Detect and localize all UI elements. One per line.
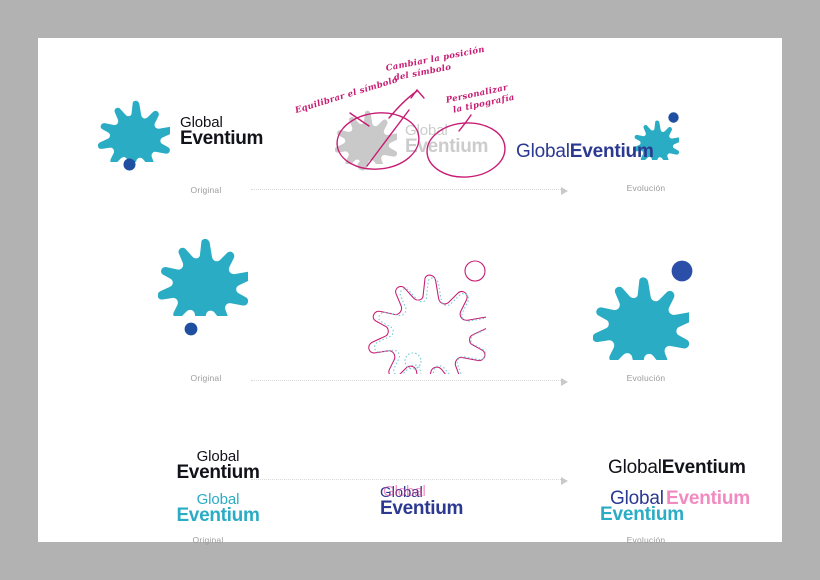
original-splat-large-icon	[158, 238, 248, 316]
caption-evolution-row1: Evolución	[586, 183, 706, 193]
wireframe-dot-outline-top-icon	[464, 260, 486, 282]
original-logo-lockup: Global Eventium	[98, 100, 298, 170]
evolved-symbol	[593, 260, 713, 360]
evolved-type-overlay: Global Eventium Eventium	[558, 489, 758, 535]
evolved-symbol-dot-icon	[671, 260, 693, 282]
wordmark-eventium: Eventium	[180, 130, 263, 147]
artboard-sheet: Global Eventium Original Global Eventium	[38, 38, 782, 542]
wireframe-splat-outline-icon	[368, 274, 486, 374]
evolved-logo-lockup: GlobalEventium	[508, 98, 698, 178]
overlay-type-pink-global: Global	[383, 485, 466, 499]
caption-original-row3: Original	[148, 535, 268, 545]
evolved-type-black: GlobalEventium	[608, 458, 808, 477]
original-type-teal-eventium: Eventium	[148, 507, 288, 524]
evolved-type-teal-eventium: Eventium	[600, 504, 684, 525]
original-symbol-dot-icon	[184, 322, 198, 336]
caption-evolution-row3: Evolución	[586, 535, 706, 545]
original-typography: Global Eventium Global Eventium	[148, 450, 288, 525]
wireframe-symbol	[368, 260, 498, 370]
splat-symbol-icon	[98, 100, 170, 162]
wireframe-dot-outline-bottom-icon	[404, 352, 422, 370]
evolved-type-black-eventium: Eventium	[662, 457, 746, 478]
navy-dot-icon	[123, 158, 136, 171]
original-wordmark: Global Eventium	[180, 116, 263, 147]
overlay-type-pink: Global Eventium	[383, 485, 466, 516]
original-type-black: Global Eventium	[148, 450, 288, 481]
logo-lockup-row: Global Eventium Original Global Eventium	[38, 38, 782, 208]
original-symbol	[148, 238, 258, 348]
evolved-navy-dot-icon	[668, 112, 679, 123]
progress-arrow-row3	[251, 479, 561, 481]
evolved-wordmark: GlobalEventium	[516, 142, 654, 161]
evolved-type-black-global: Global	[608, 457, 662, 478]
evolved-wordmark-eventium: Eventium	[570, 141, 654, 162]
evolved-typography: GlobalEventium Global Eventium Eventium	[558, 458, 758, 535]
symbol-row: Original	[38, 208, 782, 378]
original-type-teal: Global Eventium	[148, 493, 288, 524]
caption-original-row1: Original	[146, 185, 266, 195]
annotation-sketch-row1: Global Eventium Equilibrar el símbolo	[293, 58, 523, 198]
overlay-typography: Global Eventium Global Eventium	[368, 486, 508, 526]
typography-row: Global Eventium Global Eventium Original…	[38, 378, 782, 542]
evolved-splat-large-icon	[593, 276, 689, 360]
evolved-wordmark-global: Global	[516, 141, 570, 162]
evolved-type-teal-eventium-wrap: Eventium	[600, 505, 684, 524]
